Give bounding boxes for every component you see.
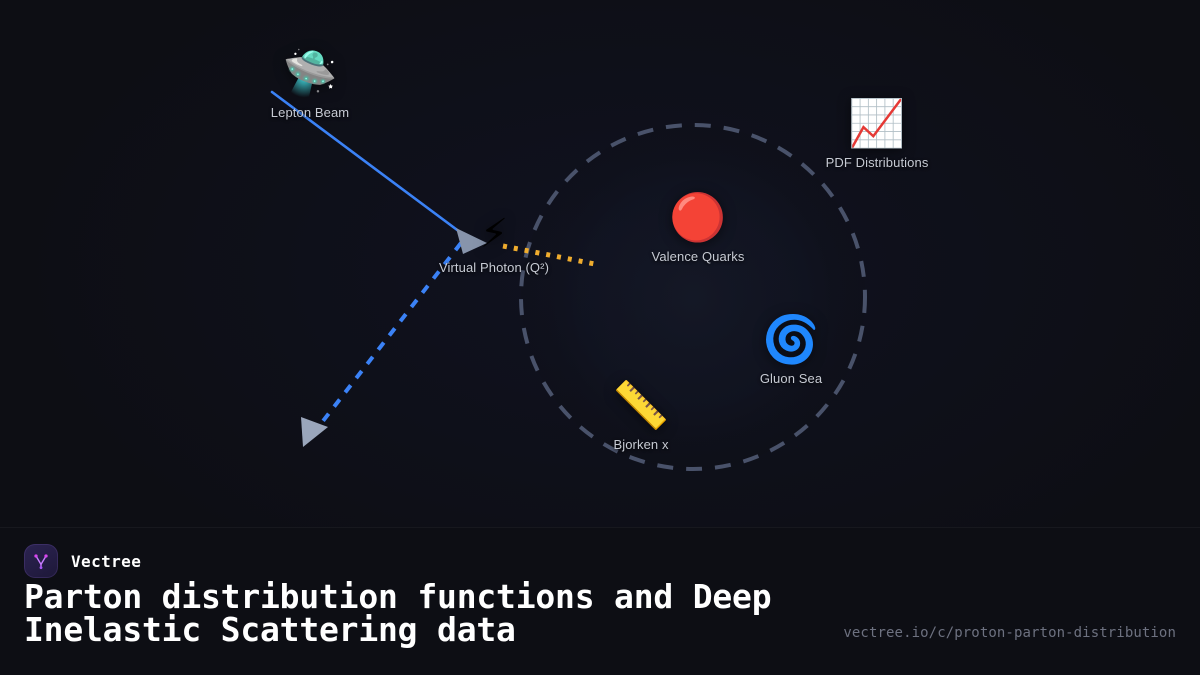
chart-increasing-icon: 📈: [848, 100, 905, 146]
diagram-node-lepton-beam[interactable]: 🛸 Lepton Beam: [215, 52, 405, 120]
diagram-node-virtual-photon[interactable]: ⚡ Virtual Photon (Q²): [399, 214, 589, 275]
node-label-virtual-photon: Virtual Photon (Q²): [439, 260, 549, 275]
node-label-pdf-distributions: PDF Distributions: [826, 155, 929, 170]
diagram-canvas: 🛸 Lepton Beam ⚡ Virtual Photon (Q²) 🔴 Va…: [0, 0, 1200, 527]
page-title: Parton distribution functions and Deep I…: [24, 580, 864, 646]
cyclone-icon: 🌀: [762, 316, 819, 362]
node-label-bjorken-x: Bjorken x: [613, 437, 668, 452]
brand-row[interactable]: Vectree: [24, 544, 141, 578]
lightning-bolt-icon: ⚡: [480, 214, 508, 254]
node-label-valence-quarks: Valence Quarks: [652, 249, 745, 264]
vectree-logo-glyph: [31, 551, 51, 571]
red-circle-icon: 🔴: [669, 194, 726, 240]
footer-bar: Vectree Parton distribution functions an…: [0, 527, 1200, 675]
vectree-logo-icon: [24, 544, 58, 578]
diagram-node-gluon-sea[interactable]: 🌀 Gluon Sea: [696, 316, 886, 386]
node-label-lepton-beam: Lepton Beam: [271, 105, 349, 120]
diagram-node-bjorken-x[interactable]: 📏 Bjorken x: [546, 382, 736, 452]
flying-saucer-icon: 🛸: [283, 52, 338, 96]
brand-name: Vectree: [71, 552, 141, 571]
diagram-node-valence-quarks[interactable]: 🔴 Valence Quarks: [603, 194, 793, 264]
diagram-node-pdf-distributions[interactable]: 📈 PDF Distributions: [782, 100, 972, 170]
scattered-lepton-arrowhead: [301, 417, 328, 447]
node-label-gluon-sea: Gluon Sea: [760, 371, 822, 386]
straight-ruler-icon: 📏: [612, 382, 669, 428]
footer-url: vectree.io/c/proton-parton-distribution: [843, 625, 1176, 641]
